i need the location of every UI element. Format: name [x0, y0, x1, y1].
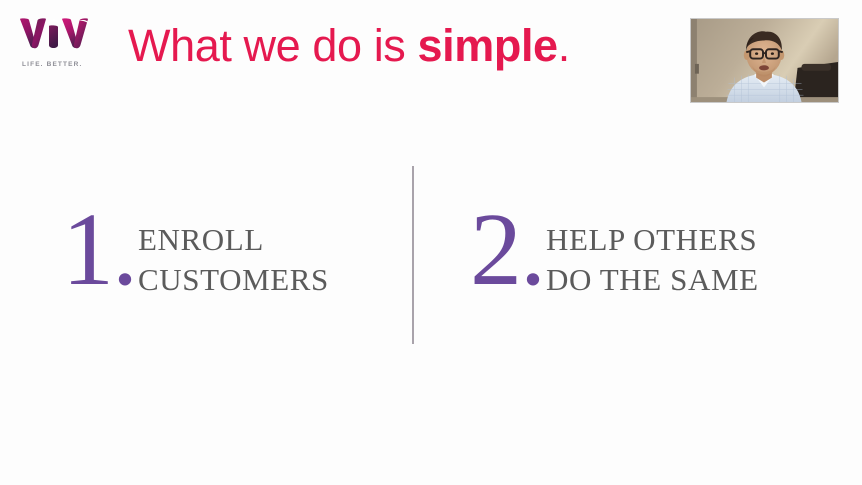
step-1-number: 1.: [62, 198, 136, 302]
page-title: What we do is simple.: [128, 19, 570, 73]
step-1-line-2: CUSTOMERS: [138, 260, 329, 300]
step-2-line-2: DO THE SAME: [546, 260, 759, 300]
step-item-2: 2. HELP OTHERS DO THE SAME: [470, 160, 759, 302]
steps-container: 1. ENROLL CUSTOMERS 2. HELP OTHERS DO TH…: [0, 160, 862, 350]
presentation-slide: LIFE. BETTER. What we do is simple.: [0, 0, 862, 485]
logo-tagline: LIFE. BETTER.: [22, 61, 110, 68]
step-1-text: ENROLL CUSTOMERS: [138, 220, 329, 300]
viv-logo: LIFE. BETTER.: [18, 16, 110, 78]
vertical-divider: [412, 166, 414, 344]
title-suffix-text: .: [558, 20, 570, 71]
slide-header: LIFE. BETTER. What we do is simple.: [0, 0, 862, 110]
title-emphasis-text: simple: [418, 20, 558, 71]
step-item-1: 1. ENROLL CUSTOMERS: [62, 160, 329, 302]
presenter-webcam-image: [691, 19, 838, 102]
step-2-number: 2.: [470, 198, 544, 302]
title-plain-text: What we do is: [128, 20, 418, 71]
step-2-text: HELP OTHERS DO THE SAME: [546, 220, 759, 300]
presenter-video-tile[interactable]: [690, 18, 839, 103]
step-2-line-1: HELP OTHERS: [546, 220, 759, 260]
step-1-line-1: ENROLL: [138, 220, 329, 260]
viv-wordmark-icon: [18, 16, 98, 56]
